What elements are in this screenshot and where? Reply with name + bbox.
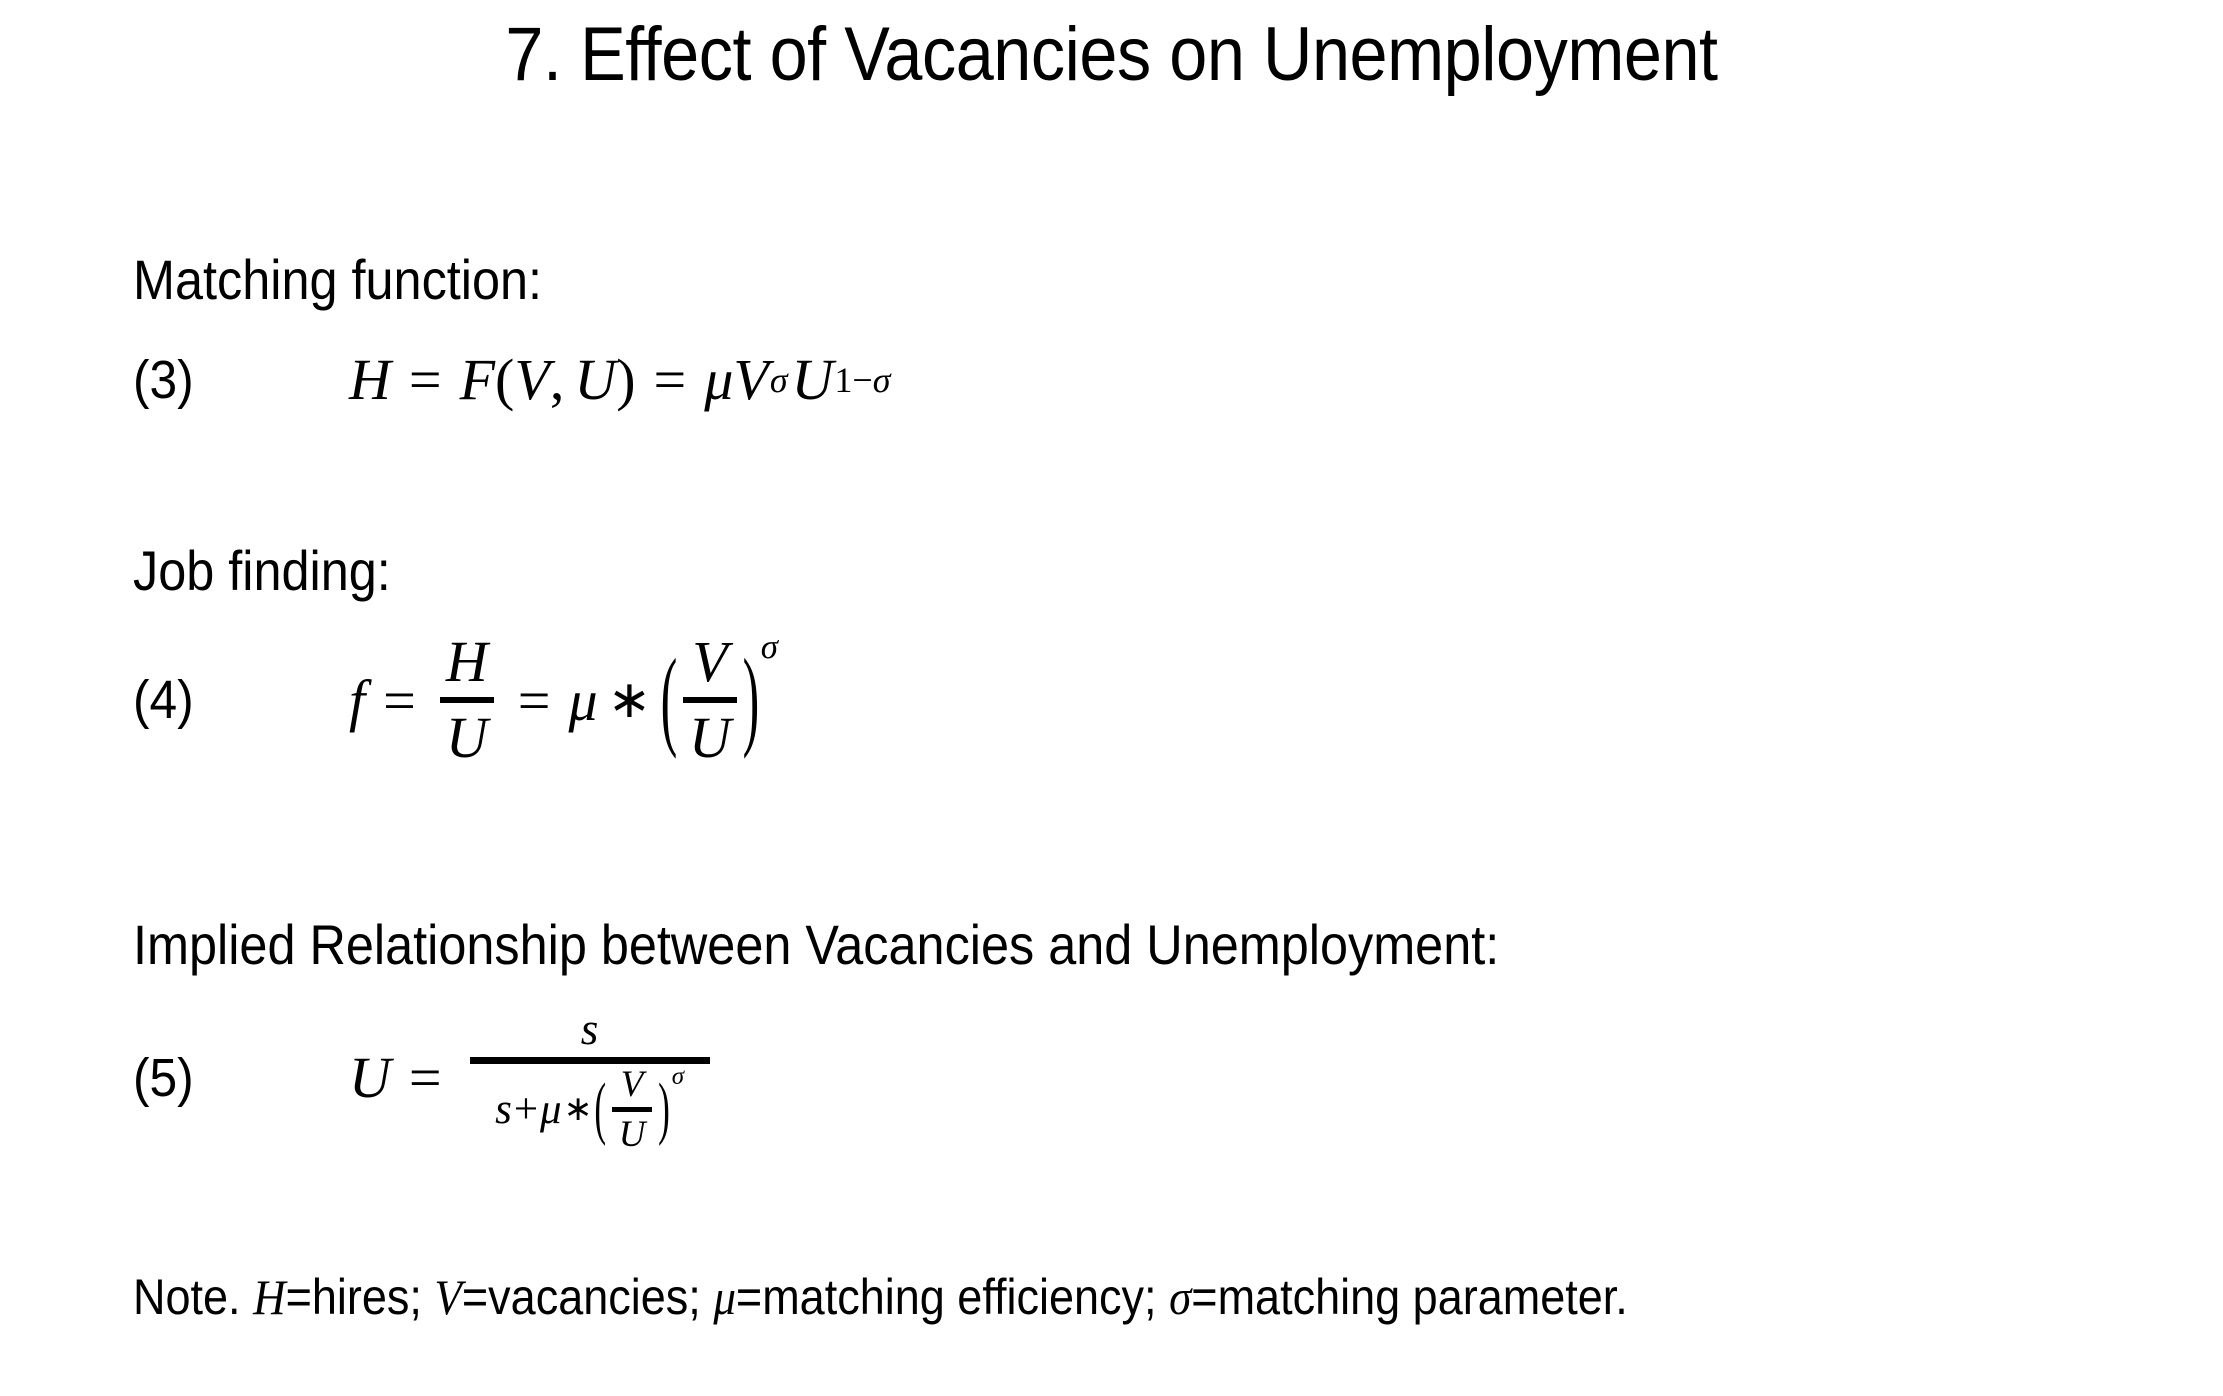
eq4-fraction-bar [440,697,494,703]
eq4-equals-2: = [518,667,551,734]
eq5-inner-denominator: U [613,1116,652,1153]
equation-4-row: (4) f = H U = μ ∗ ( V U ) σ [133,633,2153,767]
note-symbol-sigma: σ [1169,1269,1191,1325]
eq5-inner-fraction-bar [612,1107,652,1112]
eq5-equals: = [409,1044,442,1111]
page-title: 7. Effect of Vacancies on Unemployment [111,12,2112,97]
eq4-mu: μ [568,667,597,734]
eq3-arg-u: U [574,346,616,413]
equation-5-row: (5) U = s s + μ ∗ ( V U [133,1003,2153,1153]
eq5-den-mu: μ [540,1085,562,1134]
eq3-function-name: F [460,346,495,413]
eq4-fraction-numerator: H [440,633,494,691]
eq5-numerator-s: s [581,1003,599,1057]
eq5-paren-open: ( [594,1069,606,1149]
equation-3-tag: (3) [133,349,243,411]
eq3-paren-open: ( [495,346,514,413]
note-label: Note. [133,1269,241,1325]
eq5-den-asterisk: ∗ [564,1089,593,1129]
eq3-u-exp-minus: − [852,360,872,400]
eq3-lhs: H [349,346,391,413]
note-definition-v: =vacancies; [462,1269,701,1325]
equation-5-body: U = s s + μ ∗ ( V U [349,1003,710,1153]
eq4-lhs: f [349,667,365,734]
note-symbol-h: H [253,1269,285,1325]
equation-3-body: H = F ( V , U ) = μ Vσ U1−σ [349,346,890,413]
eq3-comma: , [550,346,565,413]
eq3-u-exp-one: 1 [834,360,852,400]
eq5-inner-numerator: V [615,1066,650,1103]
eq4-fraction-denominator: U [440,709,494,767]
eq4-asterisk: ∗ [608,670,652,730]
note-definition-sigma: =matching parameter. [1191,1269,1628,1325]
eq4-inner-denominator: U [683,709,737,767]
eq5-den-plus: + [514,1085,538,1134]
eq4-exponent-sigma: σ [761,627,778,667]
section-heading-job-finding: Job finding: [133,543,1951,599]
eq5-main-fraction: s s + μ ∗ ( V U ) σ [470,1003,710,1153]
eq3-u: U [792,346,834,413]
eq4-equals-1: = [383,667,416,734]
equation-4-body: f = H U = μ ∗ ( V U ) σ [349,633,778,767]
eq4-parenthesized-ratio: ( V U ) σ [661,633,778,767]
eq3-v: V [733,346,768,413]
eq3-u-exp-sigma: σ [873,360,891,400]
equation-3-row: (3) H = F ( V , U ) = μ Vσ U1−σ [133,346,2153,413]
eq3-paren-close: ) [616,346,635,413]
slide-body: Matching function: (3) H = F ( V , U ) =… [133,252,2153,1153]
eq3-equals-1: = [409,346,442,413]
note-line: Note. H=hires; V=vacancies; μ=matching e… [133,1272,1628,1322]
eq5-den-s: s [495,1085,512,1134]
eq5-denominator: s + μ ∗ ( V U ) σ [495,1064,684,1153]
eq5-lhs: U [349,1044,391,1111]
eq4-paren-open: ( [661,637,678,764]
eq5-paren-close: ) [658,1069,670,1149]
eq4-inner-numerator: V [686,633,733,691]
note-symbol-v: V [434,1269,461,1325]
note-definition-mu: =matching efficiency; [736,1269,1157,1325]
eq3-arg-v: V [514,346,549,413]
equation-4-tag: (4) [133,669,243,731]
eq3-equals-2: = [654,346,687,413]
note-definition-h: =hires; [286,1269,422,1325]
section-heading-implied-relationship: Implied Relationship between Vacancies a… [133,917,1951,973]
eq5-inner-fraction-v-over-u: V U [612,1066,652,1153]
eq4-paren-close: ) [742,637,759,764]
eq5-parenthesized-ratio: ( V U ) σ [594,1066,684,1153]
note-symbol-mu: μ [713,1269,736,1325]
equation-5-tag: (5) [133,1047,243,1109]
eq4-inner-fraction-bar [683,697,737,703]
eq5-exponent-sigma: σ [672,1063,684,1091]
section-heading-matching-function: Matching function: [133,252,1951,308]
eq3-mu: μ [704,346,733,413]
eq4-fraction-h-over-u: H U [440,633,494,767]
eq4-inner-fraction-v-over-u: V U [683,633,737,767]
